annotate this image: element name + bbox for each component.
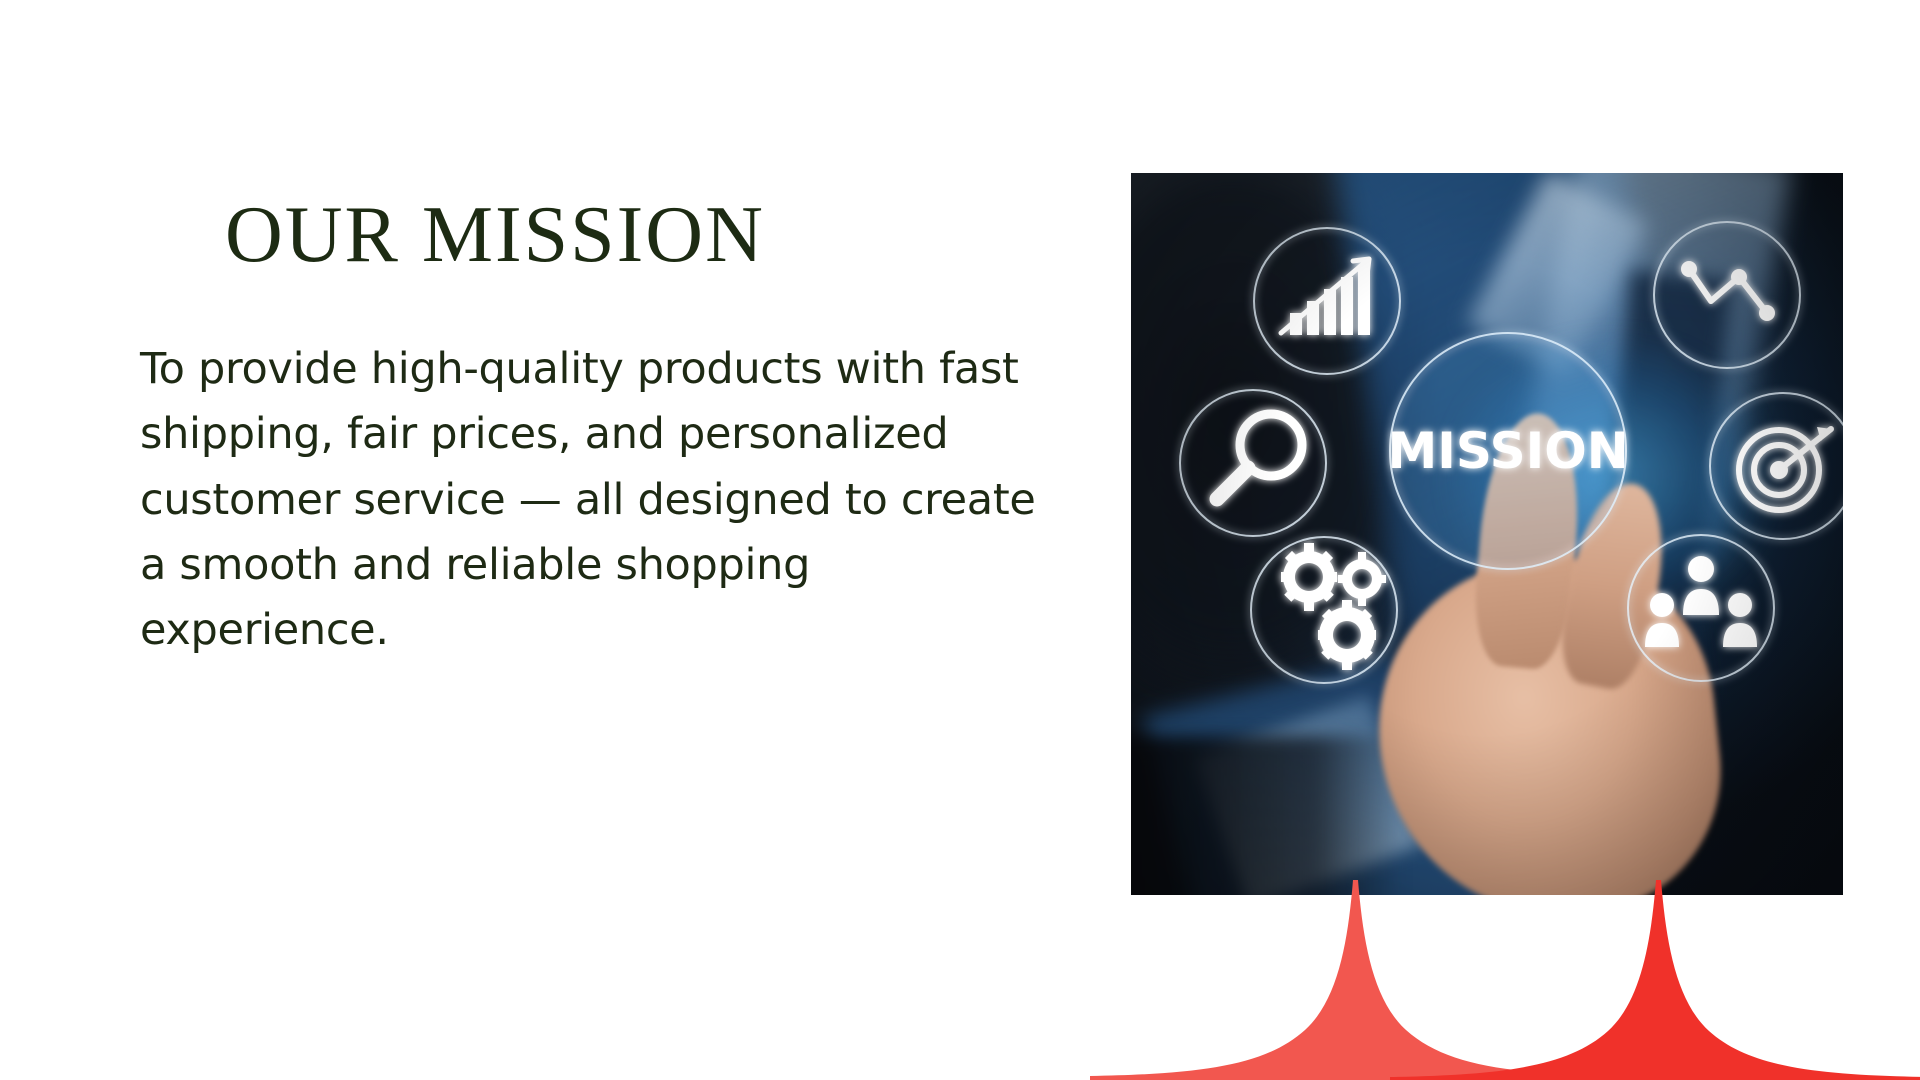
- gears-icon: [1251, 537, 1397, 683]
- team-people-icon: [1628, 535, 1774, 681]
- decorative-spikes: [1090, 880, 1920, 1080]
- mission-photo: MISSION: [1131, 173, 1843, 895]
- line-graph-icon: [1654, 222, 1800, 368]
- growth-bar-chart-icon: [1254, 228, 1400, 374]
- mission-center-label: MISSION: [1387, 422, 1628, 480]
- mission-body-text: To provide high-quality products with fa…: [140, 337, 1060, 664]
- spike-left: [1090, 880, 1621, 1080]
- photo-hud-overlay: MISSION: [1131, 173, 1843, 895]
- magnifier-icon: [1180, 390, 1326, 536]
- target-dart-icon: [1710, 393, 1843, 539]
- page-title: OUR MISSION: [140, 195, 1060, 275]
- text-column: OUR MISSION To provide high-quality prod…: [140, 195, 1060, 664]
- spike-right: [1390, 880, 1920, 1080]
- slide-canvas: OUR MISSION To provide high-quality prod…: [0, 0, 1920, 1080]
